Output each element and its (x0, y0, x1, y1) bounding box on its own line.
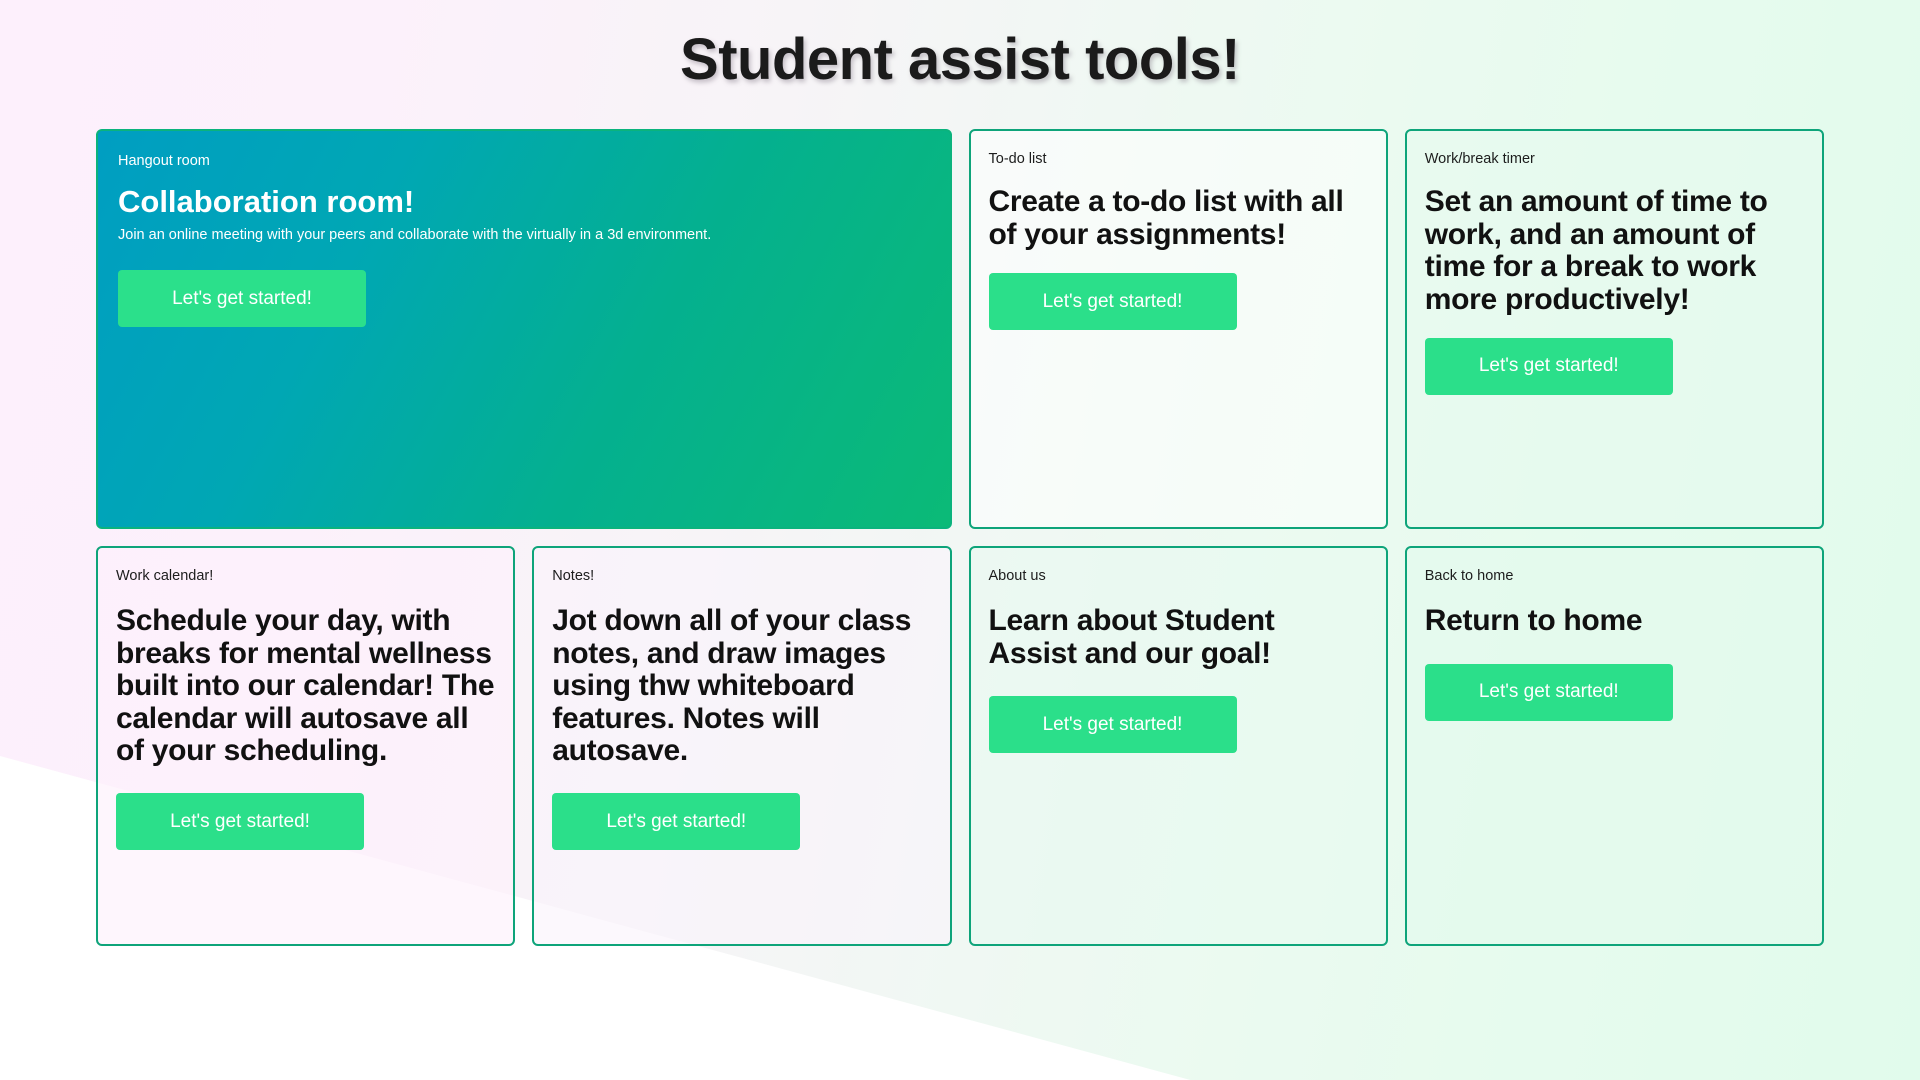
get-started-button-todo[interactable]: Let's get started! (989, 273, 1237, 330)
card-heading-notes: Jot down all of your class notes, and dr… (552, 605, 931, 767)
card-heading-hangout: Collaboration room! (118, 186, 930, 219)
card-kicker-home: Back to home (1425, 568, 1804, 585)
tool-card-about-us[interactable]: About us Learn about Student Assist and … (969, 546, 1388, 946)
card-kicker-hangout: Hangout room (118, 153, 930, 170)
tool-card-back-to-home[interactable]: Back to home Return to home Let's get st… (1405, 546, 1824, 946)
tool-card-hangout-room[interactable]: Hangout room Collaboration room! Join an… (96, 129, 952, 529)
tool-card-work-calendar[interactable]: Work calendar! Schedule your day, with b… (96, 546, 515, 946)
tool-card-grid: Hangout room Collaboration room! Join an… (96, 129, 1824, 946)
card-subtext-hangout: Join an online meeting with your peers a… (118, 226, 897, 244)
get-started-button-home[interactable]: Let's get started! (1425, 664, 1673, 721)
page-title: Student assist tools! (0, 0, 1920, 93)
card-heading-calendar: Schedule your day, with breaks for menta… (116, 605, 495, 767)
card-kicker-notes: Notes! (552, 568, 931, 585)
get-started-button-about[interactable]: Let's get started! (989, 696, 1237, 753)
card-kicker-about: About us (989, 568, 1368, 585)
card-kicker-calendar: Work calendar! (116, 568, 495, 585)
card-heading-home: Return to home (1425, 605, 1804, 637)
card-heading-todo: Create a to-do list with all of your ass… (989, 186, 1368, 251)
get-started-button-notes[interactable]: Let's get started! (552, 793, 800, 850)
tool-card-todo-list[interactable]: To-do list Create a to-do list with all … (969, 129, 1388, 529)
get-started-button-calendar[interactable]: Let's get started! (116, 793, 364, 850)
card-heading-about: Learn about Student Assist and our goal! (989, 605, 1368, 670)
page-root: Student assist tools! Hangout room Colla… (0, 0, 1920, 1080)
get-started-button-hangout[interactable]: Let's get started! (118, 270, 366, 327)
card-kicker-timer: Work/break timer (1425, 151, 1804, 168)
tool-card-notes[interactable]: Notes! Jot down all of your class notes,… (532, 546, 951, 946)
card-heading-timer: Set an amount of time to work, and an am… (1425, 186, 1804, 316)
tool-card-work-break-timer[interactable]: Work/break timer Set an amount of time t… (1405, 129, 1824, 529)
get-started-button-timer[interactable]: Let's get started! (1425, 338, 1673, 395)
card-kicker-todo: To-do list (989, 151, 1368, 168)
